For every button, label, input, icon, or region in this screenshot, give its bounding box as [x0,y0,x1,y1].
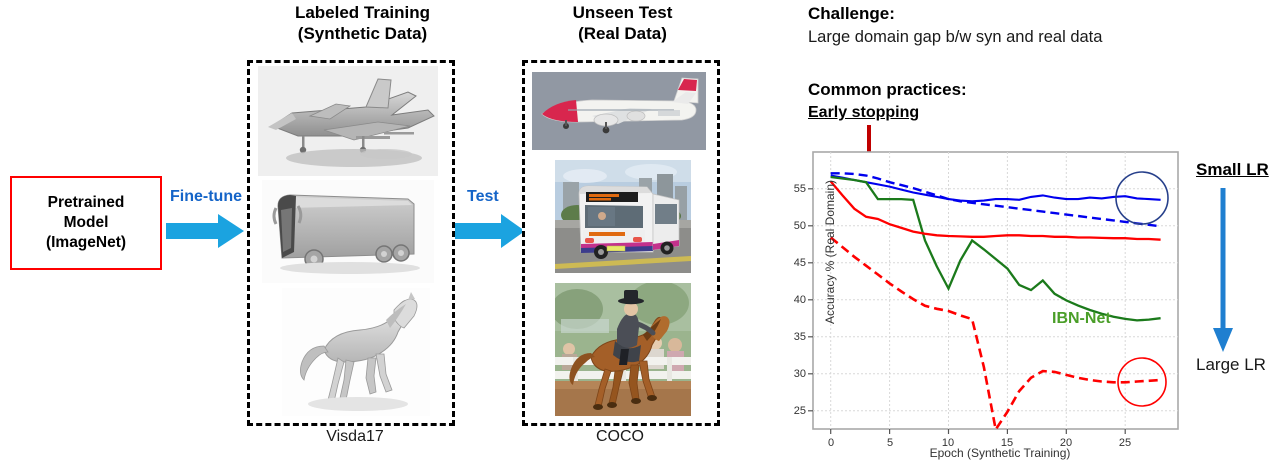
ytick-30: 30 [790,368,806,380]
test-arrow-icon [455,212,527,250]
large-lr-annotation-label: Large LR [1196,355,1266,375]
pretrained-line2: Model [64,213,109,233]
training-title-line2: (Synthetic Data) [298,24,427,43]
fine-tune-label: Fine-tune [170,188,242,206]
pretrained-line3: (ImageNet) [46,233,126,253]
pretrained-line1: Pretrained [48,193,125,213]
test-label: Test [467,188,499,206]
ytick-55: 55 [790,183,806,195]
ytick-45: 45 [790,257,806,269]
synthetic-horse-render [282,288,430,416]
column-title-test: Unseen Test (Real Data) [525,2,720,44]
real-airplane-photo [532,72,706,150]
challenge-body: Large domain gap b/w syn and real data [808,28,1102,47]
ytick-40: 40 [790,294,806,306]
pretrained-model-box: Pretrained Model (ImageNet) [10,176,162,270]
xtick-25: 25 [1115,437,1135,449]
real-bus-photo [555,160,691,273]
training-title-line1: Labeled Training [295,3,430,22]
accuracy-line-chart [790,148,1190,438]
y-axis-title: Accuracy % (Real Domain) [823,152,837,352]
column-title-training: Labeled Training (Synthetic Data) [255,2,470,44]
xtick-5: 5 [880,437,900,449]
ytick-25: 25 [790,405,806,417]
test-title-line2: (Real Data) [578,24,667,43]
pipeline-diagram: Labeled Training (Synthetic Data) Unseen… [0,0,790,458]
training-dataset-caption: Visda17 [255,428,455,446]
challenge-heading: Challenge: [808,4,895,24]
test-dataset-caption: COCO [520,428,720,446]
synthetic-truck-render [262,180,434,283]
small-lr-annotation-label: Small LR [1196,160,1269,180]
xtick-0: 0 [821,437,841,449]
ytick-50: 50 [790,220,806,232]
early-stopping-label: Early stopping [808,104,919,122]
ytick-35: 35 [790,331,806,343]
small-to-large-lr-arrow-icon [1212,188,1234,353]
test-title-line1: Unseen Test [573,3,673,22]
synthetic-jet-render [258,66,438,176]
accuracy-chart-panel: Challenge: Large domain gap b/w syn and … [790,0,1280,458]
fine-tune-arrow-icon [166,212,246,250]
real-horse-rider-photo [555,283,691,416]
common-practices-heading: Common practices: [808,80,967,100]
ibn-net-callout-label: IBN-Net [1052,310,1111,328]
